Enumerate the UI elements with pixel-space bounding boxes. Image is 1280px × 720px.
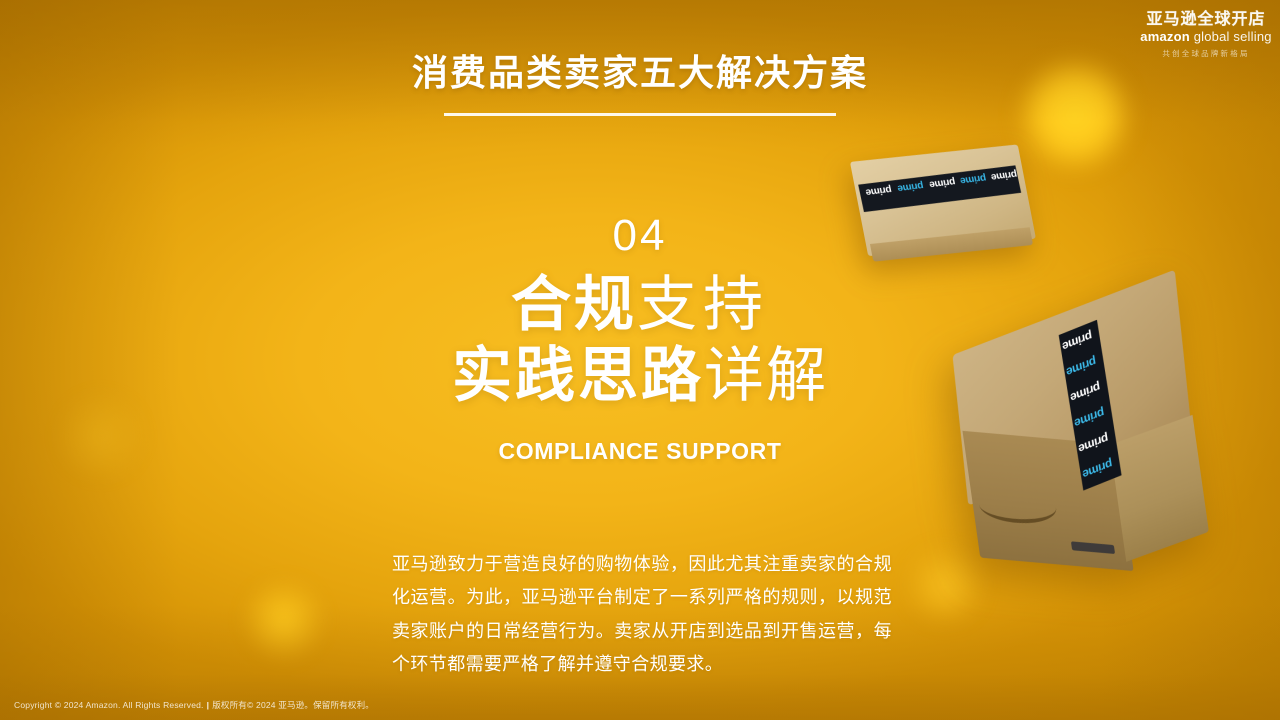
footer-copyright-english: Copyright © 2024 Amazon. All Rights Rese… bbox=[14, 700, 204, 710]
prime-tape-label: prime bbox=[1066, 354, 1098, 380]
footer-copyright: Copyright © 2024 Amazon. All Rights Rese… bbox=[14, 699, 374, 711]
prime-tape-label: prime bbox=[1074, 405, 1106, 431]
slide-header: 消费品类卖家五大解决方案 bbox=[0, 52, 1280, 116]
section-number: 04 bbox=[0, 214, 1280, 258]
prime-tape-label: prime bbox=[1078, 431, 1110, 457]
headline-line-1-strong: 合规 bbox=[511, 271, 637, 338]
headline-line-2-light: 详解 bbox=[704, 342, 828, 409]
prime-tape-label: prime bbox=[990, 168, 1018, 182]
logo-chinese-text: 亚马逊全球开店 bbox=[1140, 12, 1272, 29]
footer-copyright-chinese: 版权所有© 2024 亚马逊。保留所有权利。 bbox=[212, 700, 374, 710]
footer-separator: | bbox=[207, 700, 210, 710]
slide-root: 亚马逊全球开店 amazon global selling 共创全球品牌新格局 … bbox=[0, 0, 1280, 720]
page-title: 消费品类卖家五大解决方案 bbox=[0, 52, 1280, 93]
title-underline-rule bbox=[444, 113, 836, 116]
package-large-box: prime prime prime prime prime prime bbox=[940, 296, 1219, 599]
prime-tape-label: prime bbox=[897, 180, 925, 194]
logo-global-selling-text: global selling bbox=[1194, 29, 1272, 44]
prime-tape-label: prime bbox=[1082, 456, 1114, 482]
headline-line-2-strong: 实践思路 bbox=[452, 342, 704, 409]
body-paragraph: 亚马逊致力于营造良好的购物体验，因此尤其注重卖家的合规化运营。为此，亚马逊平台制… bbox=[392, 548, 892, 681]
prime-tape-label: prime bbox=[928, 176, 956, 190]
prime-tape-label: prime bbox=[959, 172, 987, 186]
logo-english-text: amazon global selling bbox=[1140, 30, 1272, 44]
prime-tape-label: prime bbox=[1062, 328, 1094, 354]
headline-line-1-light: 支持 bbox=[637, 271, 769, 338]
prime-tape-label: prime bbox=[865, 184, 893, 198]
logo-amazon-wordmark: amazon bbox=[1140, 29, 1190, 44]
prime-tape-label: prime bbox=[1070, 380, 1102, 406]
